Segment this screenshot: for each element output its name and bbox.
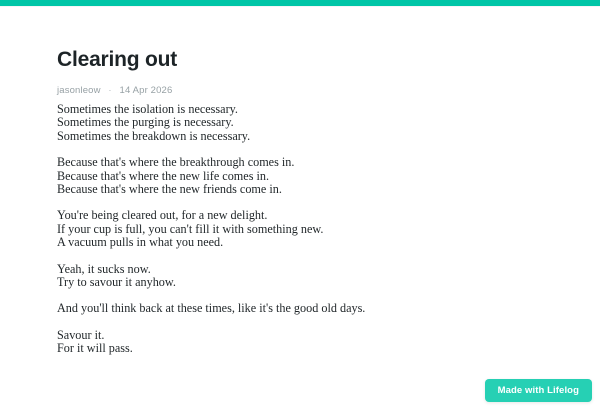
post-line: Yeah, it sucks now.	[57, 263, 537, 276]
article-container: Clearing out jasonleow · 14 Apr 2026 Som…	[0, 7, 600, 413]
post-body: Sometimes the isolation is necessary.Som…	[57, 103, 537, 356]
post-line: For it will pass.	[57, 342, 537, 355]
post-stanza: Because that's where the breakthrough co…	[57, 156, 537, 196]
post-stanza: Sometimes the isolation is necessary.Som…	[57, 103, 537, 143]
post-line: Because that's where the new life comes …	[57, 170, 537, 183]
post-line: You're being cleared out, for a new deli…	[57, 209, 537, 222]
post-line: Because that's where the new friends com…	[57, 183, 537, 196]
post-line: And you'll think back at these times, li…	[57, 302, 537, 315]
post-stanza: You're being cleared out, for a new deli…	[57, 209, 537, 249]
author-name[interactable]: jasonleow	[57, 85, 101, 96]
post-line: If your cup is full, you can't fill it w…	[57, 223, 537, 236]
page-title: Clearing out	[57, 47, 177, 73]
made-with-lifelog-badge[interactable]: Made with Lifelog	[485, 379, 592, 402]
post-date: 14 Apr 2026	[120, 85, 173, 96]
post-byline: jasonleow · 14 Apr 2026	[57, 85, 172, 96]
post-line: Savour it.	[57, 329, 537, 342]
post-stanza: Yeah, it sucks now.Try to savour it anyh…	[57, 263, 537, 290]
post-line: A vacuum pulls in what you need.	[57, 236, 537, 249]
post-line: Sometimes the breakdown is necessary.	[57, 130, 537, 143]
post-line: Sometimes the isolation is necessary.	[57, 103, 537, 116]
post-line: Sometimes the purging is necessary.	[57, 116, 537, 129]
post-stanza: Savour it.For it will pass.	[57, 329, 537, 356]
post-stanza: And you'll think back at these times, li…	[57, 302, 537, 315]
post-line: Because that's where the breakthrough co…	[57, 156, 537, 169]
post-line: Try to savour it anyhow.	[57, 276, 537, 289]
byline-separator: ·	[103, 85, 116, 96]
